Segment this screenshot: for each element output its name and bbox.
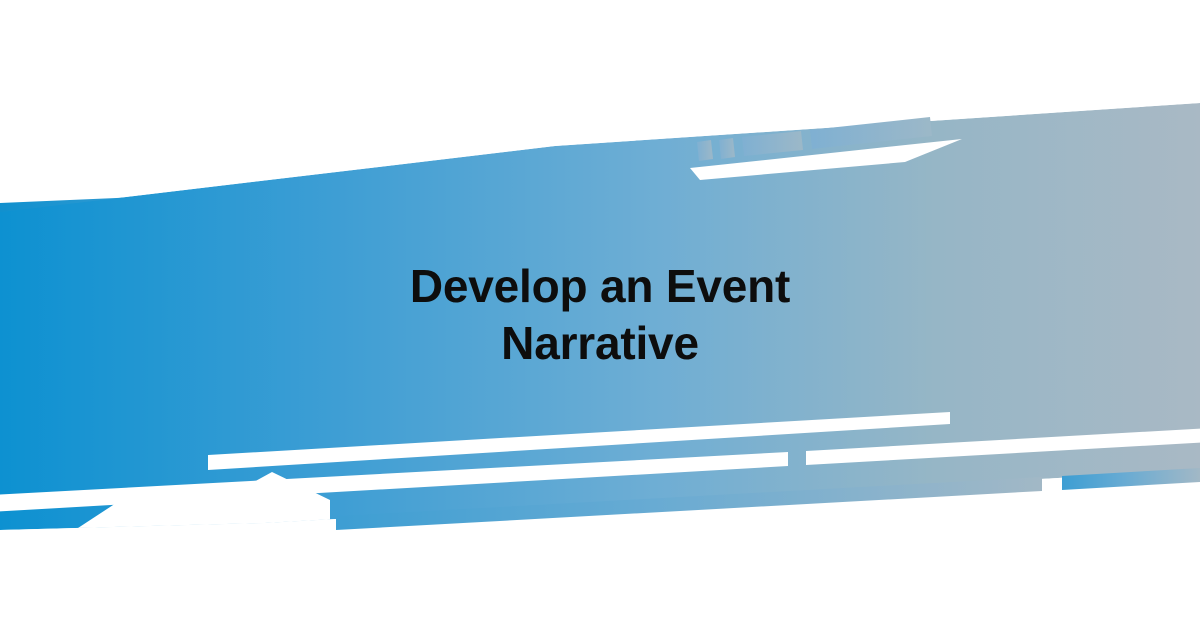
- dash-mark-2: [719, 138, 735, 159]
- decorative-background-graphic: [0, 0, 1200, 630]
- dash-mark-1: [697, 140, 713, 161]
- banner-card: Develop an Event Narrative: [0, 0, 1200, 630]
